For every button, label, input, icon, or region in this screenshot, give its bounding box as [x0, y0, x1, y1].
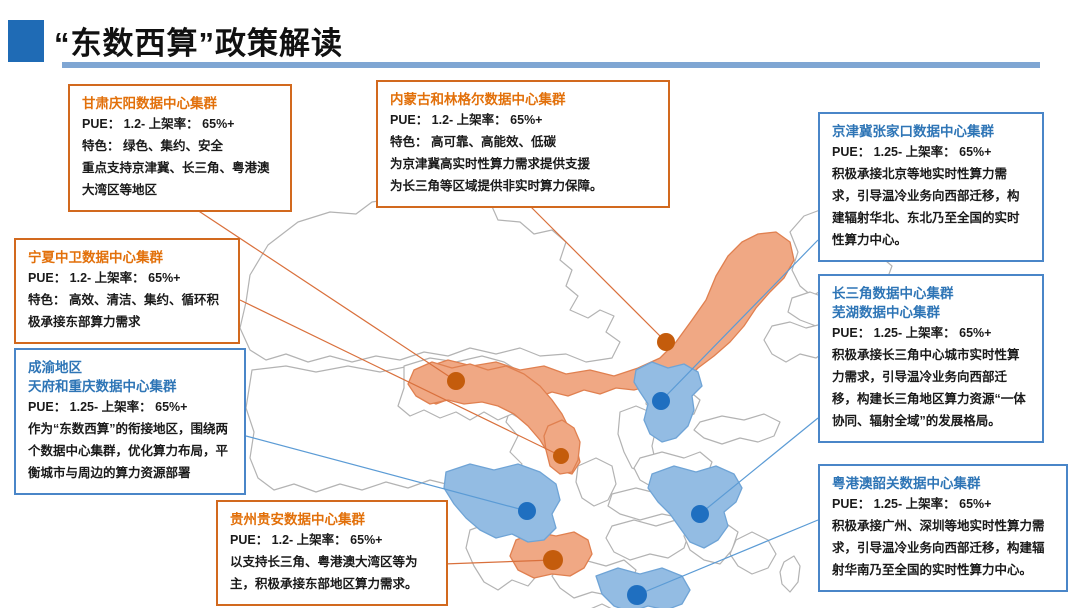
callout-title: 贵州贵安数据中心集群 — [230, 510, 434, 529]
callout-gansu[interactable]: 甘肃庆阳数据中心集群 PUE： 1.2- 上架率： 65%+ 特色： 绿色、集约… — [68, 84, 292, 212]
marker-ningxia — [553, 448, 569, 464]
callout-line: PUE： 1.25- 上架率： 65%+ — [832, 141, 1030, 163]
callout-body: 以支持长三角、粤港澳大湾区等为主，积极承接东部地区算力需求。 — [230, 551, 434, 595]
callout-body: 作为“东数西算”的衔接地区，围绕两个数据中心集群，优化算力布局，平衡城市与周边的… — [28, 418, 232, 484]
callout-body: 积极承接长三角中心城市实时性算力需求，引导温冷业务向西部迁移，构建长三角地区算力… — [832, 344, 1030, 432]
callout-ningxia[interactable]: 宁夏中卫数据中心集群 PUE： 1.2- 上架率： 65%+ 特色： 高效、清洁… — [14, 238, 240, 344]
callout-title: 宁夏中卫数据中心集群 — [28, 248, 226, 267]
callout-title: 成渝地区 — [28, 358, 232, 377]
callout-subtitle: 芜湖数据中心集群 — [832, 303, 1030, 322]
callout-title: 粤港澳韶关数据中心集群 — [832, 474, 1054, 493]
callout-line: PUE： 1.2- 上架率： 65%+ — [390, 109, 656, 131]
callout-guizhou[interactable]: 贵州贵安数据中心集群 PUE： 1.2- 上架率： 65%+ 以支持长三角、粤港… — [216, 500, 448, 606]
callout-line: PUE： 1.2- 上架率： 65%+ — [82, 113, 278, 135]
slide-root: “东数西算”政策解读 — [0, 0, 1080, 608]
callout-body: 积极承接广州、深圳等地实时性算力需求，引导温冷业务向西部迁移，构建辐射华南乃至全… — [832, 515, 1054, 581]
callout-line: PUE： 1.25- 上架率： 65%+ — [832, 493, 1054, 515]
title-accent-block — [8, 20, 44, 62]
callout-yuegangao[interactable]: 粤港澳韶关数据中心集群 PUE： 1.25- 上架率： 65%+ 积极承接广州、… — [818, 464, 1068, 592]
callout-body: 特色： 高效、清洁、集约、循环积极承接东部算力需求 — [28, 289, 226, 333]
callout-line: 特色： 绿色、集约、安全 — [82, 135, 278, 157]
callout-body: 重点支持京津冀、长三角、粤港澳大湾区等地区 — [82, 157, 278, 201]
callout-title: 内蒙古和林格尔数据中心集群 — [390, 90, 656, 109]
callout-line: PUE： 1.2- 上架率： 65%+ — [230, 529, 434, 551]
callout-line: PUE： 1.25- 上架率： 65%+ — [832, 322, 1030, 344]
callout-line: 特色： 高可靠、高能效、低碳 — [390, 131, 656, 153]
callout-subtitle: 天府和重庆数据中心集群 — [28, 377, 232, 396]
callout-line: PUE： 1.2- 上架率： 65%+ — [28, 267, 226, 289]
callout-chengyu[interactable]: 成渝地区 天府和重庆数据中心集群 PUE： 1.25- 上架率： 65%+ 作为… — [14, 348, 246, 495]
callout-title: 甘肃庆阳数据中心集群 — [82, 94, 278, 113]
marker-gansu — [447, 372, 465, 390]
callout-line: 为长三角等区域提供非实时算力保障。 — [390, 175, 656, 197]
callout-neimenggu[interactable]: 内蒙古和林格尔数据中心集群 PUE： 1.2- 上架率： 65%+ 特色： 高可… — [376, 80, 670, 208]
page-title: “东数西算”政策解读 — [54, 18, 343, 63]
callout-line: PUE： 1.25- 上架率： 65%+ — [28, 396, 232, 418]
marker-changsanjiao — [691, 505, 709, 523]
callout-body: 积极承接北京等地实时性算力需求，引导温冷业务向西部迁移，构建辐射华北、东北乃至全… — [832, 163, 1030, 251]
callout-line: 为京津冀高实时性算力需求提供支援 — [390, 153, 656, 175]
marker-guizhou — [543, 550, 563, 570]
callout-title: 京津冀张家口数据中心集群 — [832, 122, 1030, 141]
callout-changsanjiao[interactable]: 长三角数据中心集群 芜湖数据中心集群 PUE： 1.25- 上架率： 65%+ … — [818, 274, 1044, 443]
callout-title: 长三角数据中心集群 — [832, 284, 1030, 303]
title-underline-rule — [62, 62, 1040, 68]
marker-neimenggu — [657, 333, 675, 351]
marker-jingjinji — [652, 392, 670, 410]
marker-chengyu — [518, 502, 536, 520]
callout-jingjinji[interactable]: 京津冀张家口数据中心集群 PUE： 1.25- 上架率： 65%+ 积极承接北京… — [818, 112, 1044, 262]
marker-yuegangao — [627, 585, 647, 605]
